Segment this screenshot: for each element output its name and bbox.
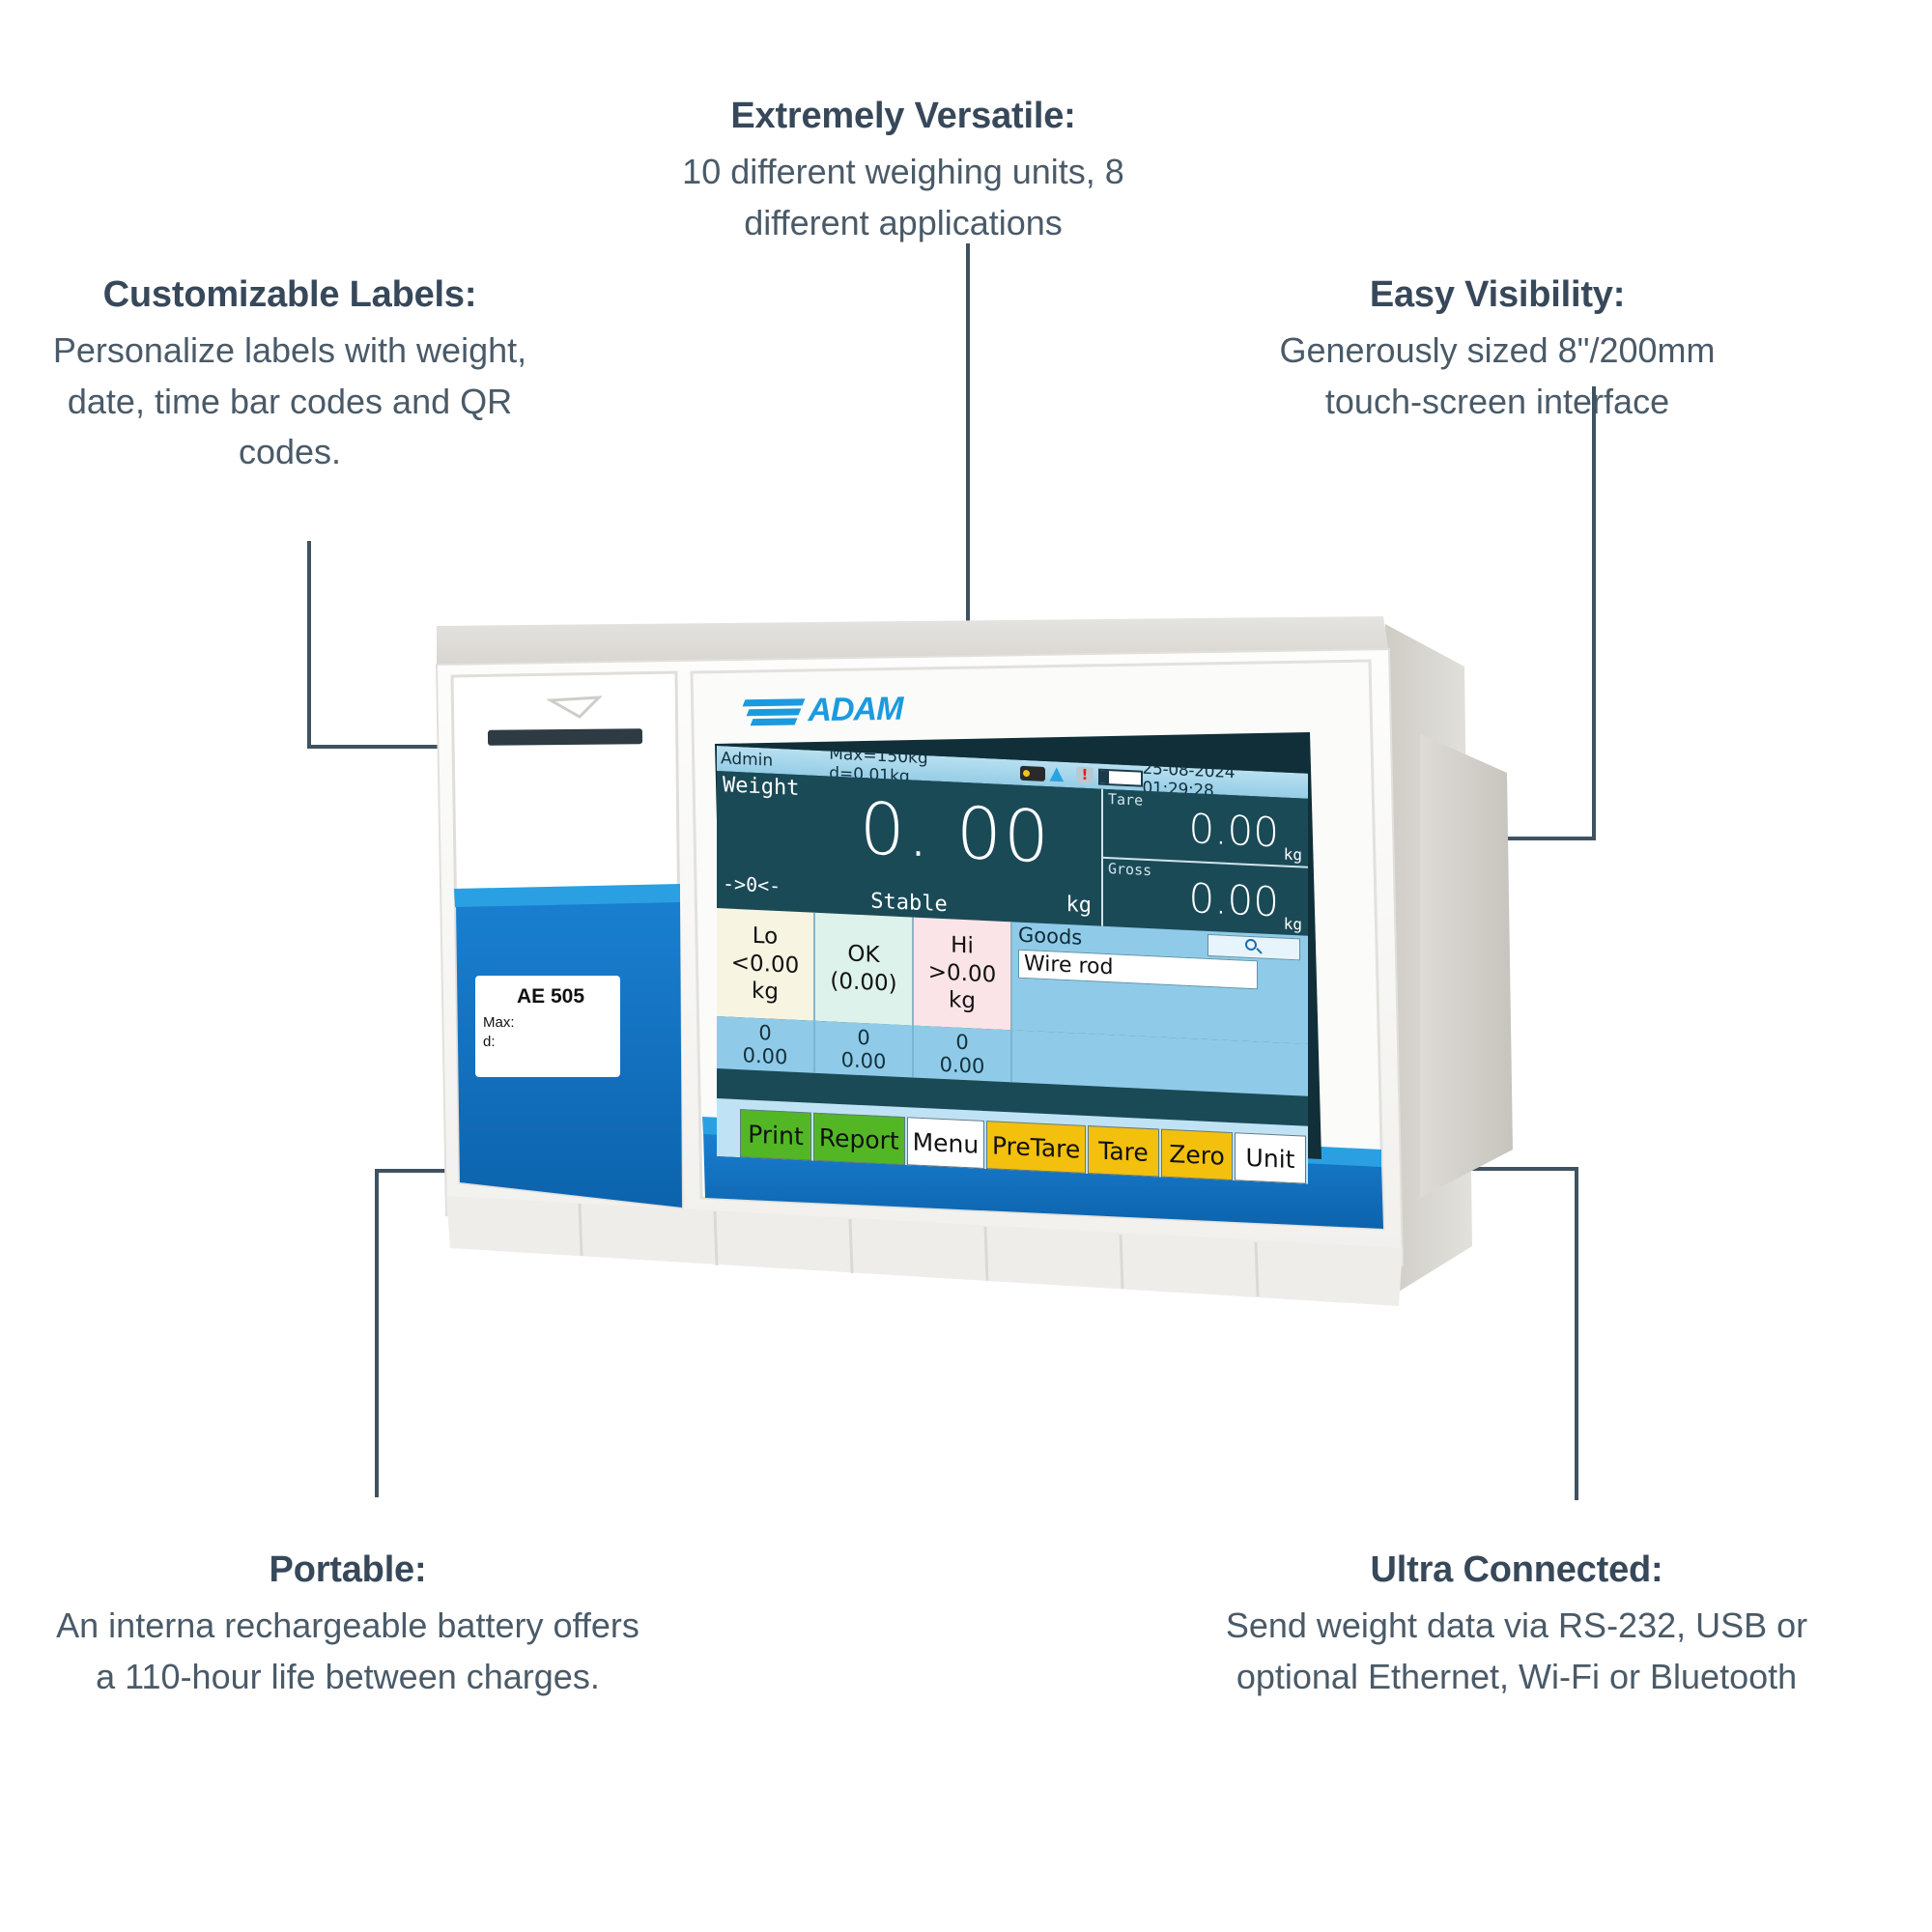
report-button[interactable]: Report <box>813 1113 905 1165</box>
unit-button[interactable]: Unit <box>1235 1132 1306 1183</box>
checkweigh-ok[interactable]: OK (0.00) <box>815 913 914 1026</box>
zero-button[interactable]: Zero <box>1161 1129 1233 1180</box>
leader-line-portable-h <box>375 1169 520 1173</box>
count-hi-count: 0 <box>955 1030 968 1054</box>
goods-search-box[interactable] <box>1207 934 1300 961</box>
button-bar: Print Report Menu PreTare Tare Zero Unit <box>717 1098 1308 1184</box>
checkweigh-ok-line2: (0.00) <box>830 968 896 999</box>
checkweigh-lo-line3: kg <box>752 978 779 1007</box>
gross-label: Gross <box>1108 860 1151 879</box>
count-ok-count: 0 <box>857 1026 869 1050</box>
callout-title: Easy Visibility: <box>1227 270 1768 320</box>
callout-easy-visibility: Easy Visibility: Generously sized 8"/200… <box>1227 270 1768 427</box>
model-plate-max: Max: <box>483 1014 618 1031</box>
tare-button[interactable]: Tare <box>1088 1125 1159 1177</box>
model-plate-d: d: <box>483 1034 618 1050</box>
shield-alert-icon <box>1076 766 1094 784</box>
status-user: Admin <box>721 749 773 771</box>
callout-title: Ultra Connected: <box>1217 1546 1816 1595</box>
checkweigh-ok-line1: OK <box>847 941 879 970</box>
leader-dot-portable <box>510 1159 531 1180</box>
leader-line-labels-h <box>307 745 512 749</box>
model-plate-model: AE 505 <box>483 985 618 1009</box>
tare-gross-panel: Tare 0.00 kg Gross 0.00 kg <box>1103 789 1308 936</box>
checkweigh-hi-line2: >0.00 <box>928 958 996 989</box>
touchscreen-display[interactable]: Admin Max=150kg d=0.01kg 25-08-2024 01:2… <box>717 746 1308 1184</box>
leader-dot-versatile <box>957 670 979 692</box>
printer-chevron-icon <box>551 697 599 717</box>
adam-logo: ADAM <box>744 691 902 731</box>
leader-line-visibility-v <box>1592 386 1596 840</box>
model-plate-text: AE 505 Max: d: <box>483 985 618 1050</box>
callout-title: Customizable Labels: <box>19 270 560 320</box>
checkweigh-lo[interactable]: Lo <0.00 kg <box>717 908 815 1021</box>
infographic-page: Customizable Labels: Personalize labels … <box>0 0 1932 1932</box>
checkweigh-hi-line3: kg <box>949 987 976 1016</box>
leader-dot-labels <box>502 734 524 755</box>
checkweigh-hi-line1: Hi <box>951 931 974 960</box>
callout-ultra-connected: Ultra Connected: Send weight data via RS… <box>1217 1546 1816 1702</box>
leader-line-connected-h <box>1410 1167 1578 1171</box>
gross-unit: kg <box>1284 915 1302 934</box>
status-icons <box>1020 764 1143 787</box>
usb-icon <box>1020 765 1045 781</box>
tare-unit: kg <box>1284 845 1302 865</box>
device-top-bevel <box>437 616 1389 667</box>
adam-mark-icon <box>744 696 804 726</box>
count-hi-total: 0.00 <box>940 1053 985 1078</box>
weight-row: Weight ->0<- 0. 00 kg Stable Tare 0.00 k… <box>717 771 1308 936</box>
tare-label: Tare <box>1108 790 1143 810</box>
pretare-button[interactable]: PreTare <box>986 1121 1086 1174</box>
adam-wordmark: ADAM <box>808 691 902 729</box>
gross-box[interactable]: Gross 0.00 kg <box>1103 859 1308 936</box>
callout-body: An interna rechargeable battery offers a… <box>48 1601 647 1702</box>
gross-value: 0.00 <box>1188 874 1279 925</box>
weight-value: 0. 00 <box>860 787 1051 879</box>
checkweigh-hi[interactable]: Hi >0.00 kg <box>914 918 1012 1031</box>
tare-box[interactable]: Tare 0.00 kg <box>1103 789 1308 868</box>
weight-label: Weight <box>723 773 799 801</box>
callout-body: Send weight data via RS-232, USB or opti… <box>1217 1601 1816 1702</box>
leader-line-connected-v <box>1575 1167 1578 1500</box>
battery-icon <box>1098 768 1143 786</box>
count-cell-ok: 0 0.00 <box>815 1021 914 1078</box>
callout-extremely-versatile: Extremely Versatile: 10 different weighi… <box>618 92 1188 248</box>
search-icon <box>1245 939 1257 952</box>
count-cell-hi: 0 0.00 <box>914 1026 1012 1083</box>
printer-module <box>452 672 682 1207</box>
count-lo-total: 0.00 <box>743 1043 788 1068</box>
device-key-strip <box>446 1196 1403 1306</box>
goods-label: Goods <box>1018 923 1082 950</box>
callout-title: Portable: <box>48 1546 647 1595</box>
device-side-panel <box>1385 624 1472 1296</box>
wifi-icon <box>1050 766 1071 782</box>
leader-line-labels-v <box>307 541 311 749</box>
leader-line-versatile <box>966 243 970 678</box>
checkweigh-lo-line2: <0.00 <box>731 949 799 980</box>
device-blue-stripe <box>454 884 680 907</box>
weight-panel[interactable]: Weight ->0<- 0. 00 kg Stable <box>717 771 1103 926</box>
count-ok-total: 0.00 <box>841 1048 887 1073</box>
device-blue-panel <box>456 898 682 1207</box>
count-lo-count: 0 <box>758 1021 771 1045</box>
callout-portable: Portable: An interna rechargeable batter… <box>48 1546 647 1702</box>
goods-panel[interactable]: Goods Wire rod <box>1012 922 1308 1043</box>
print-button[interactable]: Print <box>740 1109 811 1160</box>
leader-dot-connected <box>1403 1157 1424 1179</box>
callout-customizable-labels: Customizable Labels: Personalize labels … <box>19 270 560 478</box>
callout-body: Generously sized 8"/200mm touch-screen i… <box>1227 326 1768 427</box>
count-cell-lo: 0 0.00 <box>717 1016 815 1073</box>
callout-title: Extremely Versatile: <box>618 92 1188 141</box>
device-rear-foot <box>1420 734 1513 1198</box>
callout-body: Personalize labels with weight, date, ti… <box>19 326 560 478</box>
menu-button[interactable]: Menu <box>907 1117 985 1169</box>
callout-body: 10 different weighing units, 8 different… <box>618 147 1188 248</box>
checkweigh-lo-line1: Lo <box>753 923 778 952</box>
leader-line-visibility-h <box>1285 837 1596 840</box>
tare-value: 0.00 <box>1188 805 1279 856</box>
leader-line-portable-v <box>375 1169 379 1497</box>
device-key-dividers <box>580 1204 1258 1296</box>
